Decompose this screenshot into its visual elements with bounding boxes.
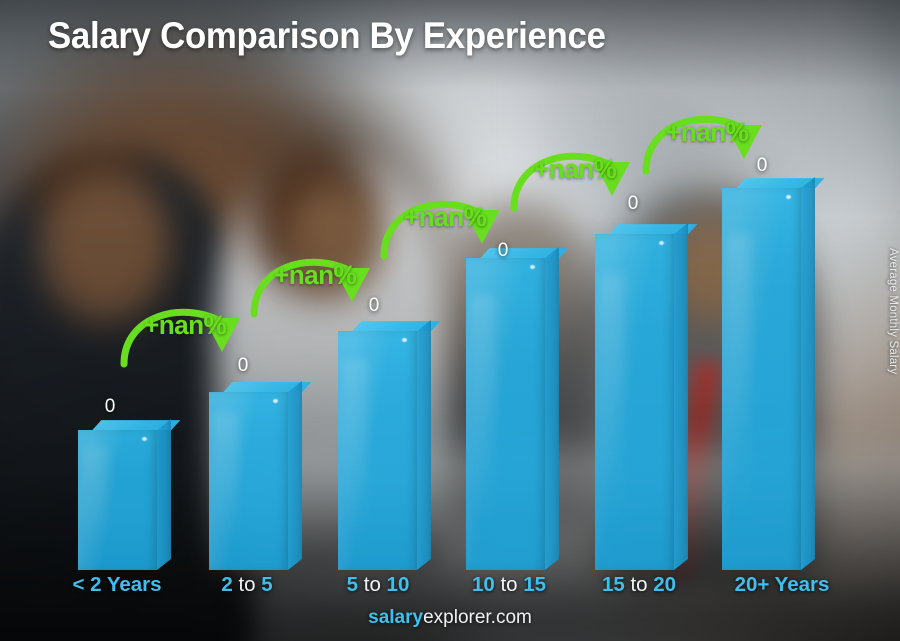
bar-value-0: 0	[105, 396, 116, 418]
x-label-part-mid: to	[495, 573, 524, 596]
bar-highlight	[601, 274, 625, 529]
bar-4[interactable]	[595, 234, 674, 570]
x-axis-label-1: 2 to 5	[221, 573, 272, 597]
delta-arrow-1: +nan%	[248, 246, 376, 316]
bar-side-face	[674, 223, 688, 570]
bar-2[interactable]	[338, 331, 417, 570]
x-label-part-mid: to	[358, 573, 387, 596]
bar-front-face	[595, 234, 674, 570]
bar-glint	[142, 437, 147, 441]
delta-arrow-4: +nan%	[640, 103, 768, 173]
bar-chart: 0 0 0 0 0 0 +nan% +nan% +nan%	[0, 0, 900, 641]
bar-highlight	[215, 413, 239, 548]
bar-highlight	[728, 234, 752, 524]
bar-highlight	[472, 295, 496, 532]
bar-front-face	[209, 392, 288, 570]
delta-label: +nan%	[144, 310, 226, 341]
x-label-part-pre: 20+ Years	[735, 573, 830, 596]
x-label-part-pre: 10	[472, 573, 495, 596]
x-label-part-post: 15	[523, 573, 546, 596]
x-axis-label-0: < 2 Years	[72, 573, 161, 597]
delta-label: +nan%	[404, 202, 486, 233]
x-axis-label-3: 10 to 15	[472, 573, 546, 597]
bar-0[interactable]	[78, 430, 157, 570]
x-axis-label-5: 20+ Years	[735, 573, 830, 597]
bar-5[interactable]	[722, 188, 801, 570]
bar-front-face	[722, 188, 801, 570]
x-label-part-pre: 2	[221, 573, 232, 596]
bar-front-face	[78, 430, 157, 570]
x-label-part-pre: < 2 Years	[72, 573, 161, 596]
x-axis-label-2: 5 to 10	[347, 573, 410, 597]
bar-glint	[273, 399, 278, 403]
bar-side-face	[545, 247, 559, 570]
x-label-part-pre: 15	[602, 573, 625, 596]
bar-1[interactable]	[209, 392, 288, 570]
bar-glint	[659, 241, 664, 245]
bar-3[interactable]	[466, 258, 545, 570]
bar-glint	[530, 265, 535, 269]
delta-arrow-0: +nan%	[118, 296, 246, 366]
x-label-part-post: 20	[653, 573, 676, 596]
bar-front-face	[466, 258, 545, 570]
x-label-part-mid: to	[233, 573, 262, 596]
bar-side-face	[157, 419, 171, 570]
infographic-canvas: Salary Comparison By Experience Average …	[0, 0, 900, 641]
delta-label: +nan%	[274, 260, 356, 291]
bar-front-face	[338, 331, 417, 570]
x-label-part-pre: 5	[347, 573, 358, 596]
brand-name-bold: salary	[368, 607, 423, 628]
bar-highlight	[344, 360, 368, 542]
site-watermark[interactable]: salaryexplorer.com	[368, 607, 532, 629]
delta-label: +nan%	[666, 117, 748, 148]
bar-side-face	[288, 381, 302, 570]
x-label-part-mid: to	[625, 573, 654, 596]
delta-arrow-2: +nan%	[378, 188, 506, 258]
x-label-part-post: 10	[387, 573, 410, 596]
bar-glint	[786, 195, 791, 199]
bar-highlight	[84, 447, 108, 553]
x-label-part-post: 5	[261, 573, 272, 596]
bar-side-face	[417, 320, 431, 570]
delta-arrow-3: +nan%	[508, 140, 636, 210]
bar-side-face	[801, 177, 815, 570]
x-axis-label-4: 15 to 20	[602, 573, 676, 597]
bar-glint	[402, 338, 407, 342]
delta-label: +nan%	[534, 154, 616, 185]
brand-name-rest: explorer.com	[423, 607, 532, 628]
